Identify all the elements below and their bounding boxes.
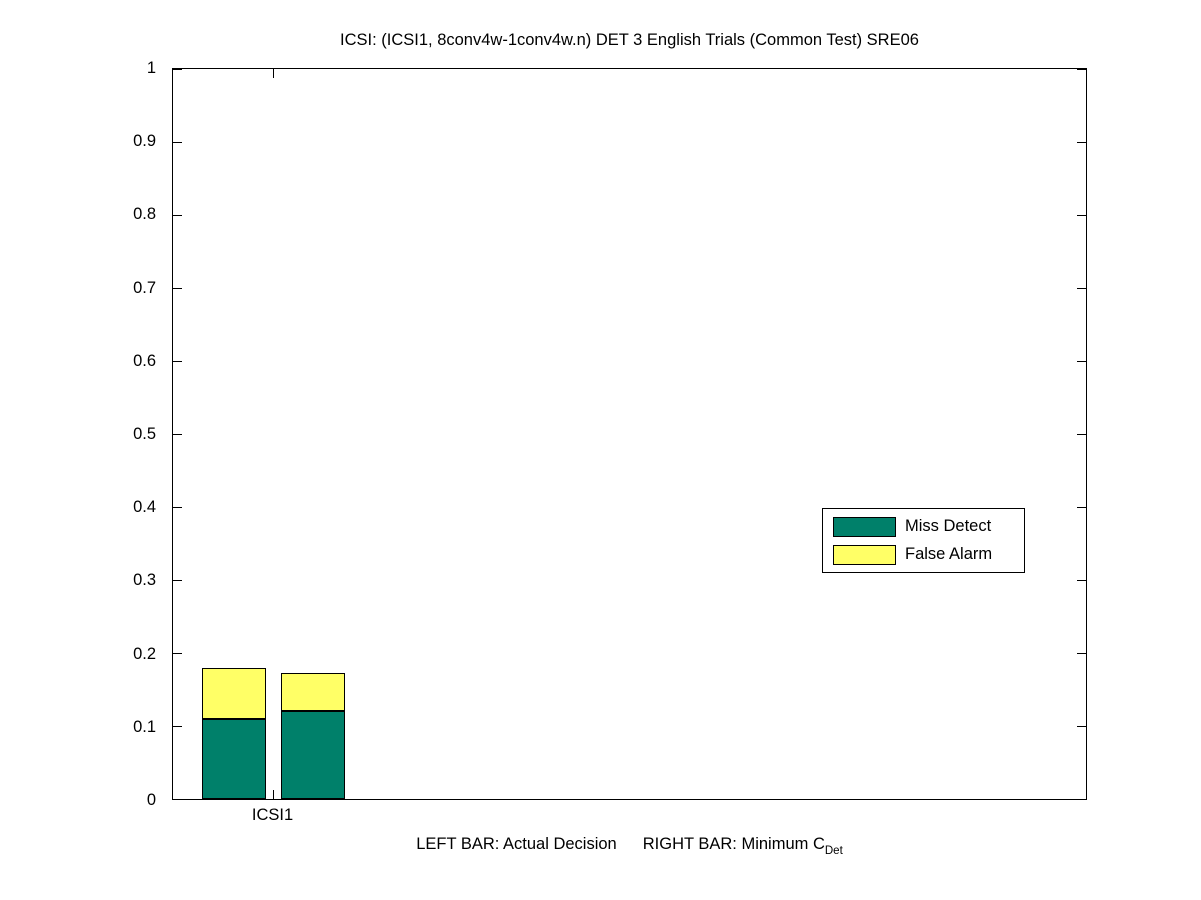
y-tick-mark bbox=[173, 142, 182, 143]
plot-axes bbox=[172, 68, 1087, 800]
y-tick-label: 0.5 bbox=[133, 426, 156, 442]
legend-row: Miss Detect bbox=[823, 513, 1024, 539]
y-tick-mark bbox=[1077, 580, 1086, 581]
x-tick-mark bbox=[273, 69, 274, 78]
bar-segment-minimum-cdet-false-alarm[interactable] bbox=[281, 673, 345, 711]
y-tick-label: 0.7 bbox=[133, 280, 156, 296]
y-tick-mark bbox=[1077, 434, 1086, 435]
y-tick-mark bbox=[1077, 361, 1086, 362]
x-tick-mark bbox=[273, 790, 274, 799]
y-tick-label: 0.4 bbox=[133, 499, 156, 515]
legend-row: False Alarm bbox=[823, 541, 1024, 567]
x-axis-label-left: LEFT BAR: Actual Decision bbox=[416, 835, 617, 853]
y-tick-mark bbox=[1077, 726, 1086, 727]
y-tick-mark bbox=[173, 507, 182, 508]
legend-swatch-false-alarm bbox=[833, 545, 896, 565]
bar-segment-actual-decision-miss-detect[interactable] bbox=[202, 719, 266, 799]
legend: Miss DetectFalse Alarm bbox=[822, 508, 1025, 573]
y-tick-mark bbox=[1077, 653, 1086, 654]
y-tick-mark bbox=[173, 361, 182, 362]
chart-title-text: ICSI: (ICSI1, 8conv4w-1conv4w.n) DET 3 E… bbox=[340, 30, 919, 50]
y-tick-label: 0.1 bbox=[133, 719, 156, 735]
y-tick-mark bbox=[1077, 507, 1086, 508]
y-tick-label: 0.6 bbox=[133, 353, 156, 369]
x-axis-label-right: RIGHT BAR: Minimum C bbox=[643, 835, 825, 853]
y-tick-mark bbox=[173, 215, 182, 216]
y-tick-mark bbox=[1077, 69, 1086, 70]
y-axis-tick-labels: 00.10.20.30.40.50.60.70.80.91 bbox=[0, 68, 164, 800]
chart-title: ICSI: (ICSI1, 8conv4w-1conv4w.n) DET 3 E… bbox=[0, 30, 1201, 50]
x-axis-label: LEFT BAR: Actual DecisionRIGHT BAR: Mini… bbox=[172, 834, 1087, 856]
y-tick-mark bbox=[1077, 288, 1086, 289]
y-tick-mark bbox=[1077, 142, 1086, 143]
x-axis-tick-labels: ICSI1 bbox=[172, 806, 1087, 830]
figure-canvas: ICSI: (ICSI1, 8conv4w-1conv4w.n) DET 3 E… bbox=[0, 0, 1201, 900]
plot-area bbox=[173, 69, 1086, 799]
bar-segment-actual-decision-false-alarm[interactable] bbox=[202, 668, 266, 719]
y-tick-mark bbox=[173, 653, 182, 654]
y-tick-label: 0.8 bbox=[133, 206, 156, 222]
y-tick-label: 0.2 bbox=[133, 646, 156, 662]
y-tick-label: 0.9 bbox=[133, 133, 156, 149]
x-tick-label: ICSI1 bbox=[252, 806, 293, 824]
bar-segment-minimum-cdet-miss-detect[interactable] bbox=[281, 711, 345, 799]
y-tick-label: 0.3 bbox=[133, 572, 156, 588]
y-tick-label: 0 bbox=[147, 792, 156, 808]
y-tick-mark bbox=[173, 434, 182, 435]
y-tick-mark bbox=[173, 69, 182, 70]
y-tick-mark bbox=[173, 580, 182, 581]
legend-label: False Alarm bbox=[905, 544, 992, 564]
y-tick-mark bbox=[173, 726, 182, 727]
y-tick-mark bbox=[173, 288, 182, 289]
legend-label: Miss Detect bbox=[905, 516, 991, 536]
legend-swatch-miss-detect bbox=[833, 517, 896, 537]
y-tick-label: 1 bbox=[147, 60, 156, 76]
x-axis-label-subscript: Det bbox=[825, 845, 843, 857]
y-tick-mark bbox=[1077, 215, 1086, 216]
